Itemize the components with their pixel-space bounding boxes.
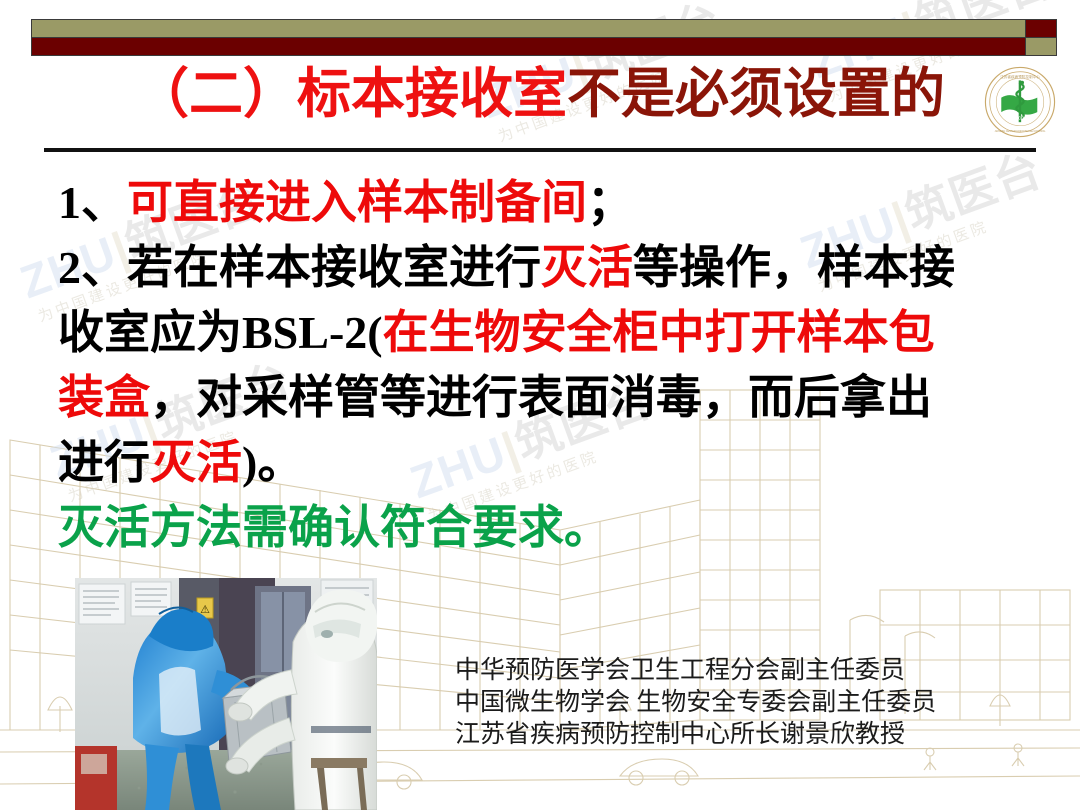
slide-title: （二）标本接收室不是必须设置的	[0, 62, 1080, 126]
header-decoration-bars	[31, 19, 1057, 57]
body-line-2-run-1: 2、若在样本接收室进行	[58, 242, 541, 293]
body-line-6-run-1: 灭活方法需确认符合要求。	[58, 502, 610, 553]
body-line-5-run-2: 灭活	[150, 437, 242, 488]
body-line-5: 进行灭活)。	[58, 430, 1038, 495]
slide-title-highlight: （二）标本接收室	[135, 64, 567, 124]
ppe-sample-handover-photo: ⚠	[75, 578, 377, 810]
body-line-1-run-1: 1、	[58, 177, 127, 228]
body-line-2-run-2: 灭活	[541, 242, 633, 293]
body-line-5-run-3: )。	[242, 437, 303, 488]
body-line-4-run-2: ，对采样管等进行表面消毒，而后拿出	[150, 372, 932, 423]
body-line-3: 收室应为BSL-2(在生物安全柜中打开样本包	[58, 300, 1038, 365]
header-bar-row2-end	[1025, 38, 1056, 55]
body-line-1: 1、可直接进入样本制备间；	[58, 170, 1038, 235]
header-bar-row2-main	[32, 38, 1025, 55]
jiangsu-cdc-logo-icon: 江苏省疾病预防控制中心 JIANGSU CENTER FOR DISEASE C…	[984, 66, 1056, 138]
svg-text:江苏省疾病预防控制中心: 江苏省疾病预防控制中心	[1000, 74, 1040, 79]
svg-text:JSCDC: JSCDC	[1013, 115, 1028, 120]
presenter-credits: 中华预防医学会卫生工程分会副主任委员中国微生物学会 生物安全专委会副主任委员江苏…	[455, 655, 936, 751]
body-line-4-run-1: 装盒	[58, 372, 150, 423]
body-line-5-run-1: 进行	[58, 437, 150, 488]
svg-text:JIANGSU CENTER FOR DISEASE CON: JIANGSU CENTER FOR DISEASE CONTROL	[995, 130, 1047, 133]
slide-canvas: ZHU|筑医台 为中国建设更好的医院 ZHU|筑医台 为中国建设更好的医院 ZH…	[0, 0, 1080, 810]
body-line-1-run-2: 可直接进入样本制备间	[127, 177, 587, 228]
slide-title-rest: 不是必须设置的	[567, 64, 945, 124]
body-line-2-run-3: 等操作，样本接	[633, 242, 955, 293]
body-line-6: 灭活方法需确认符合要求。	[58, 495, 1038, 560]
header-bar-row1-main	[32, 20, 1025, 37]
body-line-4: 装盒，对采样管等进行表面消毒，而后拿出	[58, 365, 1038, 430]
header-bar-row-1	[31, 19, 1057, 38]
title-underline-rule	[44, 148, 1036, 152]
body-line-3-run-1: 收室应为BSL-2(	[58, 307, 383, 358]
body-line-1-run-3: ；	[587, 177, 633, 228]
svg-text:⚠: ⚠	[200, 603, 210, 616]
body-line-3-run-2: 在生物安全柜中打开样本包	[383, 307, 935, 358]
credit-line-2: 中国微生物学会 生物安全专委会副主任委员	[455, 687, 936, 719]
slide-body-text: 1、可直接进入样本制备间；2、若在样本接收室进行灭活等操作，样本接收室应为BSL…	[58, 170, 1038, 560]
header-bar-row-2	[31, 37, 1057, 56]
header-bar-row1-end	[1025, 20, 1056, 37]
credit-line-1: 中华预防医学会卫生工程分会副主任委员	[455, 655, 936, 687]
body-line-2: 2、若在样本接收室进行灭活等操作，样本接	[58, 235, 1038, 300]
credit-line-3: 江苏省疾病预防控制中心所长谢景欣教授	[455, 719, 936, 751]
